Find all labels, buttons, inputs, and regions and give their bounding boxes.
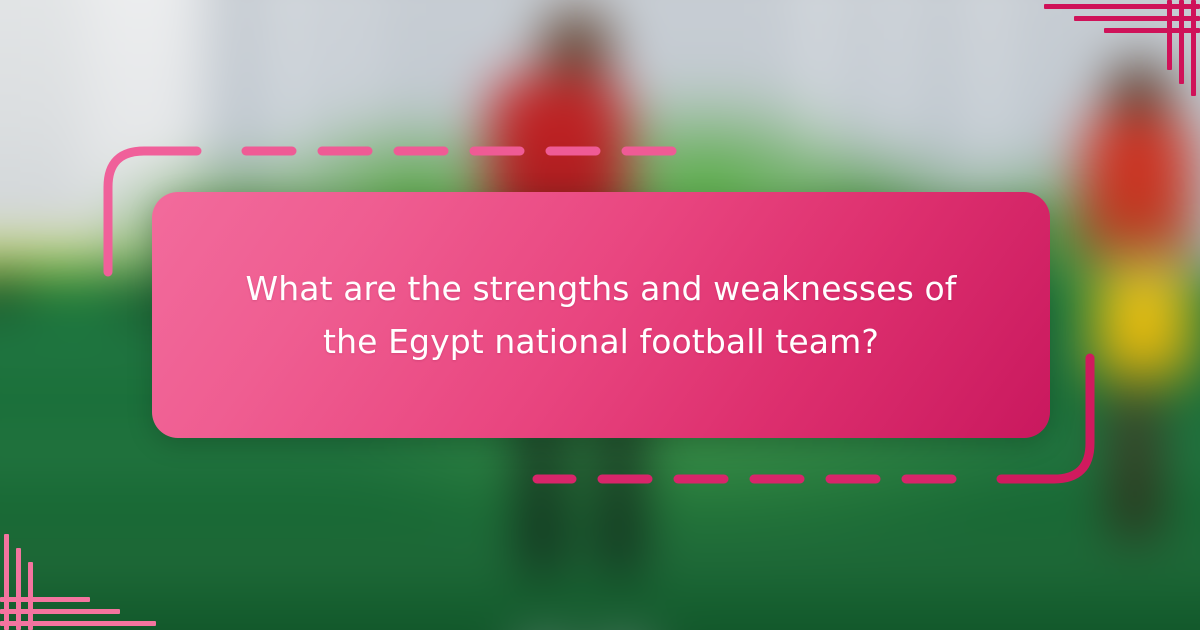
question-card: What are the strengths and weaknesses of… — [152, 192, 1050, 438]
question-text: What are the strengths and weaknesses of… — [197, 262, 1005, 369]
background-player-right-shorts — [1095, 270, 1191, 380]
background-player-right-leg — [1115, 390, 1155, 540]
social-card-canvas: What are the strengths and weaknesses of… — [0, 0, 1200, 630]
background-player-right-shirt — [1082, 113, 1192, 253]
